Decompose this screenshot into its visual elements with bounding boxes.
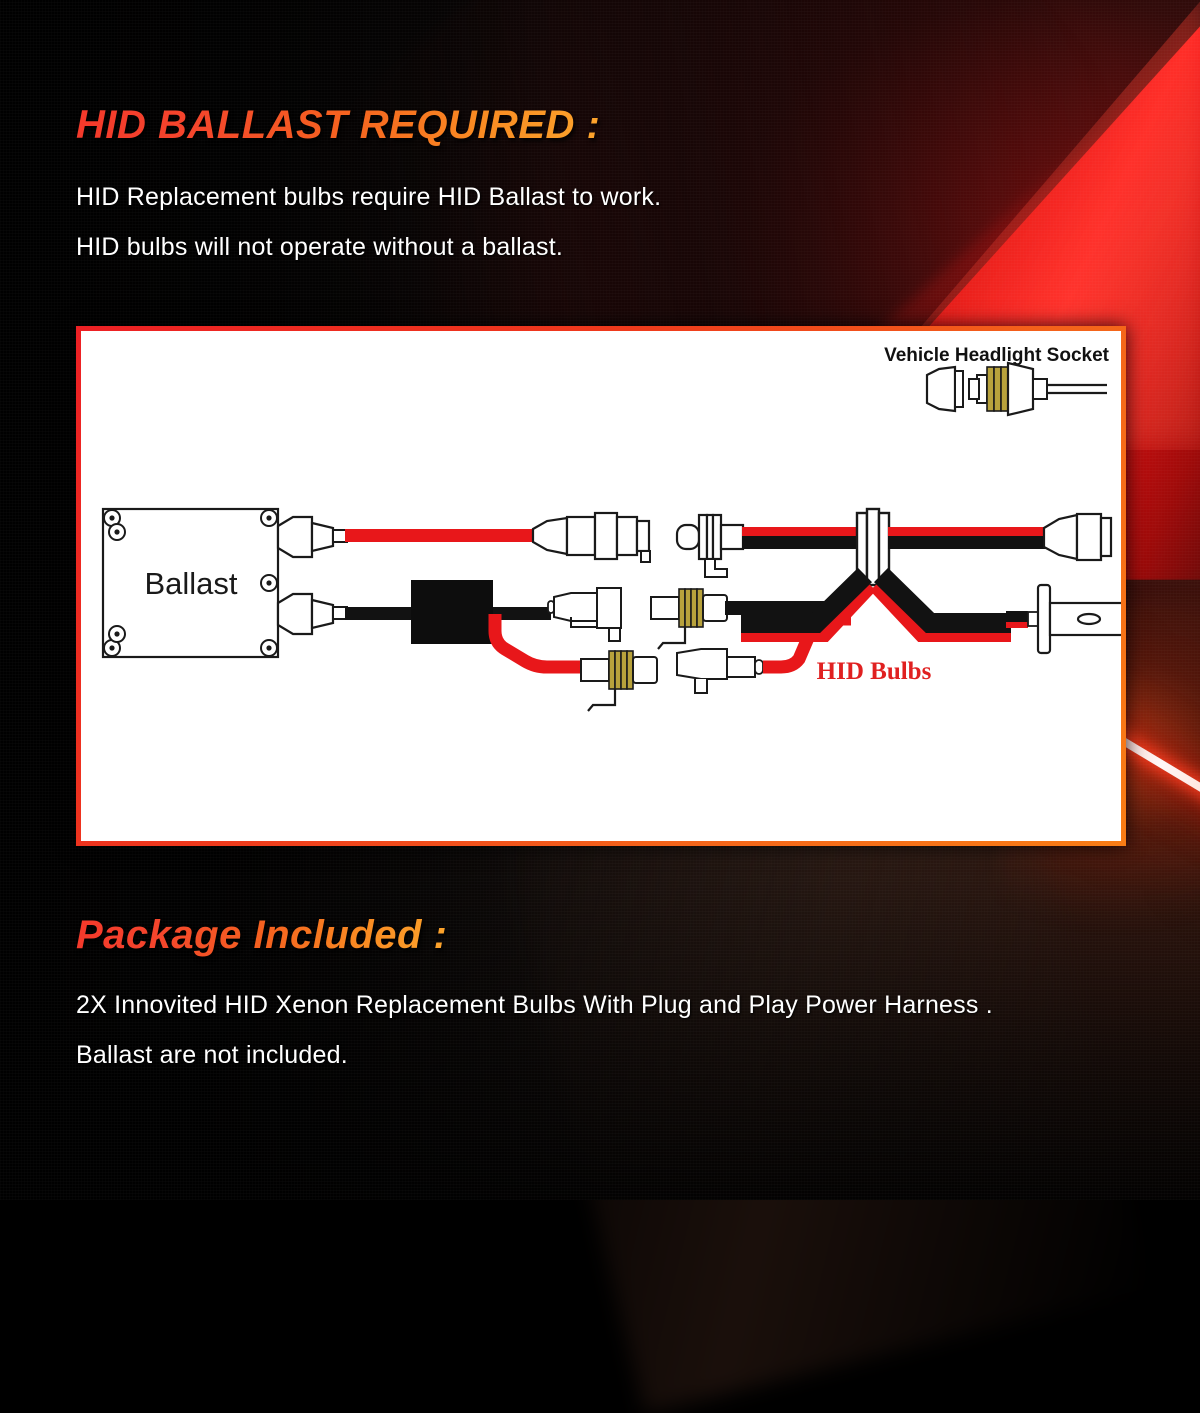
ballast-description-line-1: HID Replacement bulbs require HID Ballas… (76, 183, 661, 212)
vehicle-headlight-socket-graphic: Vehicle Headlight Socket (884, 345, 1110, 366)
package-included-heading: Package Included : (76, 913, 447, 958)
headlight-connector-body (1044, 514, 1111, 560)
ballast-required-heading: HID BALLAST REQUIRED : (76, 103, 600, 148)
ballast-box-label: Ballast (144, 566, 237, 601)
loose-bullet-connector (927, 367, 963, 411)
package-description-line-1: 2X Innovited HID Xenon Replacement Bulbs… (76, 991, 993, 1020)
bullet-connector-male (533, 513, 650, 562)
wiring-diagram-canvas: Ballast (81, 331, 1121, 841)
wire-black-upper-segment-3 (888, 536, 1048, 549)
spade-connector-row1-male (548, 588, 621, 641)
package-description-line-2: Ballast are not included. (76, 1041, 348, 1070)
igniter-black-box (411, 580, 493, 644)
hid-bulb-graphic (1006, 585, 1121, 653)
wire-red-upper-segment-3 (888, 527, 1048, 536)
wire-black-lower-segment-2 (493, 607, 551, 620)
lower-harness-branch (278, 580, 851, 711)
bullet-connector-female (677, 515, 743, 577)
wire-red-upper-segment-1 (345, 529, 535, 542)
wiring-diagram-illustration: Ballast (81, 331, 1121, 841)
ballast-description-line-2: HID bulbs will not operate without a bal… (76, 233, 563, 262)
ballast-output-plug-upper (278, 517, 347, 557)
wire-black-lower-segment-1 (345, 607, 411, 620)
vehicle-headlight-socket-label: Vehicle Headlight Socket (884, 345, 1110, 366)
upper-harness-branch (278, 509, 1111, 585)
spade-connector-row2-male (677, 649, 763, 693)
wiring-diagram-panel: Ballast (76, 326, 1126, 846)
ballast-output-plug-lower (278, 594, 347, 634)
page-content: HID BALLAST REQUIRED : HID Replacement b… (0, 0, 1200, 1200)
spade-connector-row1-female (651, 589, 727, 649)
spade-connector-row2-female (581, 651, 657, 711)
vehicle-headlight-socket-connector (969, 363, 1107, 415)
ballast-box-graphic: Ballast (103, 509, 278, 657)
hid-bulbs-label: HID Bulbs (817, 658, 932, 685)
